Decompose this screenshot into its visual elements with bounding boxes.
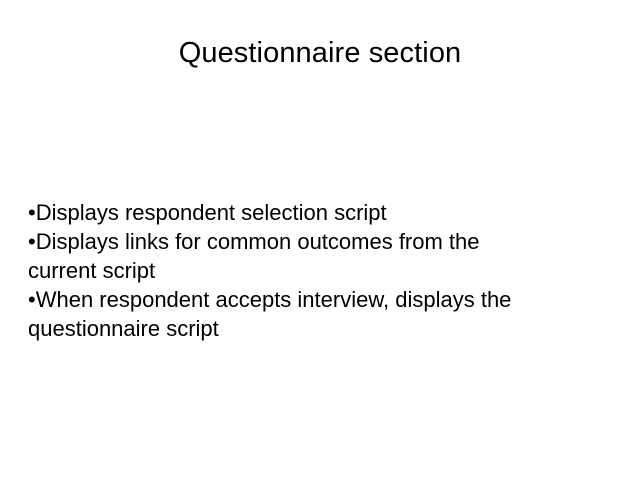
bullet-dot-icon: • (28, 200, 36, 225)
bullet-item: •Displays links for common outcomes from… (28, 227, 620, 256)
bullet-dot-icon: • (28, 287, 36, 312)
presentation-slide: Questionnaire section •Displays responde… (0, 0, 640, 480)
page-title: Questionnaire section (40, 36, 600, 70)
title-placeholder: Questionnaire section (40, 36, 600, 70)
bullet-item-text-wrapped: current script (28, 256, 620, 285)
bullet-item-text-wrapped: questionnaire script (28, 314, 620, 343)
bullet-item-text: Displays links for common outcomes from … (36, 229, 480, 254)
bullet-dot-icon: • (28, 229, 36, 254)
bullet-item-text: When respondent accepts interview, displ… (36, 287, 512, 312)
bullet-item: •When respondent accepts interview, disp… (28, 285, 620, 314)
bullet-item: •Displays respondent selection script (28, 198, 620, 227)
body-placeholder: •Displays respondent selection script •D… (28, 198, 620, 343)
bullet-item-text: Displays respondent selection script (36, 200, 387, 225)
